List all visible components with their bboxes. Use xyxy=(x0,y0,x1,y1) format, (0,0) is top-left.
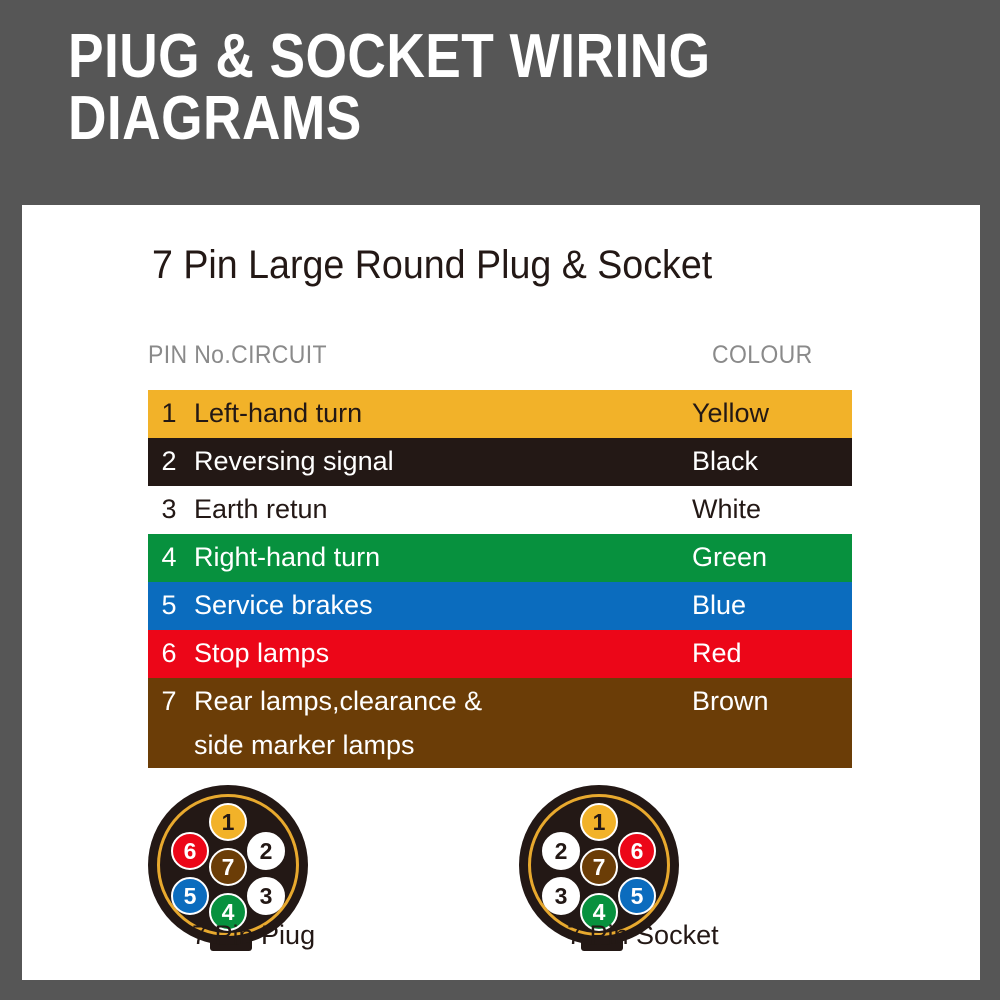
content-panel: 7 Pin Large Round Plug & Socket PIN No.C… xyxy=(22,205,980,980)
cell-circuit-description: Reversing signal xyxy=(190,438,692,483)
cell-wire-colour: Blue xyxy=(692,582,852,628)
table-row: 1Left-hand turnYellow xyxy=(148,390,852,438)
cell-circuit-description: Service brakes xyxy=(190,582,692,627)
cell-wire-colour: Red xyxy=(692,630,852,676)
cell-wire-colour: Yellow xyxy=(692,390,852,436)
cell-wire-colour: Black xyxy=(692,438,852,484)
socket-pin-3: 3 xyxy=(542,877,580,915)
cell-pin-number: 5 xyxy=(148,582,190,628)
wiring-diagram-page: PIUG & SOCKET WIRING DIAGRAMS 7 Pin Larg… xyxy=(0,0,1000,1000)
socket-pin-7: 7 xyxy=(580,848,618,886)
cell-wire-colour: Green xyxy=(692,534,852,580)
cell-circuit-description: Stop lamps xyxy=(190,630,692,675)
socket-pin-5: 5 xyxy=(618,877,656,915)
cell-circuit-description: Rear lamps,clearance & side marker lamps xyxy=(190,678,692,767)
table-row: 4Right-hand turnGreen xyxy=(148,534,852,582)
cell-pin-number: 3 xyxy=(148,486,190,532)
table-row: 3Earth retunWhite xyxy=(148,486,852,534)
cell-pin-number: 4 xyxy=(148,534,190,580)
plug-pin-3: 3 xyxy=(247,877,285,915)
table-row: 5Service brakesBlue xyxy=(148,582,852,630)
page-header: PIUG & SOCKET WIRING DIAGRAMS xyxy=(68,26,928,150)
table-row: 7Rear lamps,clearance & side marker lamp… xyxy=(148,678,852,768)
table-header-row: PIN No.CIRCUIT COLOUR xyxy=(148,341,858,373)
socket-pin-6: 6 xyxy=(618,832,656,870)
diagram-subtitle: 7 Pin Large Round Plug & Socket xyxy=(152,243,712,287)
plug-pin-7: 7 xyxy=(209,848,247,886)
table-row: 2Reversing signalBlack xyxy=(148,438,852,486)
cell-pin-number: 2 xyxy=(148,438,190,484)
plug-pin-6: 6 xyxy=(171,832,209,870)
plug-pin-1: 1 xyxy=(209,803,247,841)
cell-wire-colour: White xyxy=(692,486,852,532)
plug-pin-5: 5 xyxy=(171,877,209,915)
cell-wire-colour: Brown xyxy=(692,678,852,724)
column-header-pin-circuit: PIN No.CIRCUIT xyxy=(148,341,327,370)
cell-circuit-description: Right-hand turn xyxy=(190,534,692,579)
column-header-colour: COLOUR xyxy=(712,341,813,370)
cell-pin-number: 1 xyxy=(148,390,190,436)
wiring-table: 1Left-hand turnYellow2Reversing signalBl… xyxy=(148,390,852,768)
plug-pin-2: 2 xyxy=(247,832,285,870)
cell-pin-number: 6 xyxy=(148,630,190,676)
plug-caption: 7 Pin Piug xyxy=(192,920,315,951)
socket-pin-2: 2 xyxy=(542,832,580,870)
socket-pin-1: 1 xyxy=(580,803,618,841)
socket-caption: 7 Pin Socket xyxy=(567,920,719,951)
cell-circuit-description: Earth retun xyxy=(190,486,692,531)
cell-pin-number: 7 xyxy=(148,678,190,724)
cell-circuit-description: Left-hand turn xyxy=(190,390,692,435)
page-title: PIUG & SOCKET WIRING DIAGRAMS xyxy=(68,26,808,150)
table-row: 6Stop lampsRed xyxy=(148,630,852,678)
